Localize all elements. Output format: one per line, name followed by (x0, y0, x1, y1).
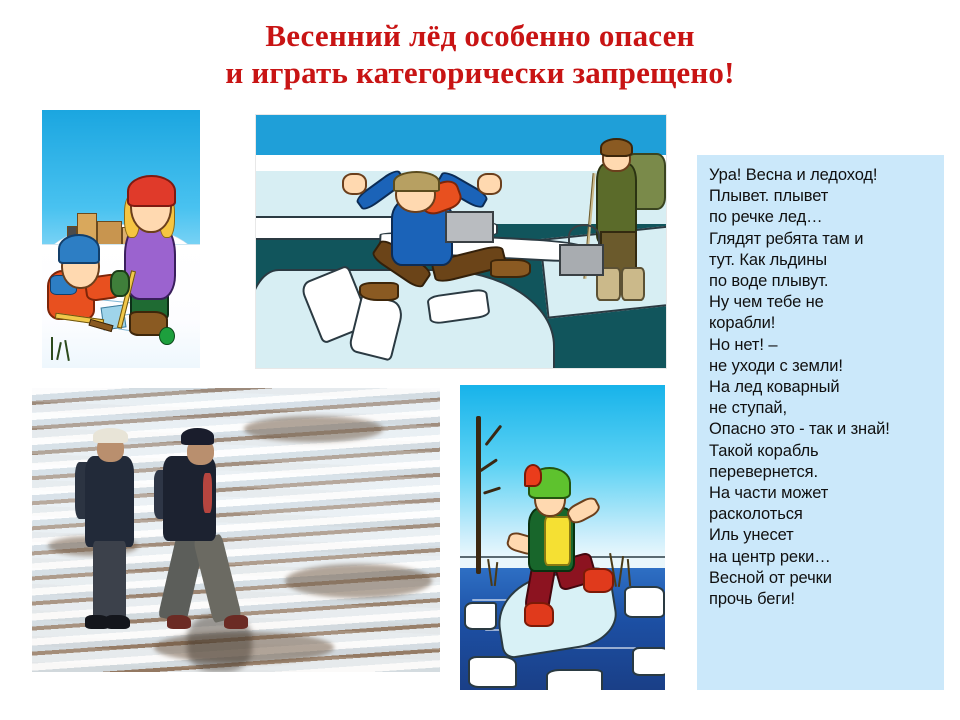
poem-line: На части может (709, 483, 938, 504)
right-boy-jacket-stripe (203, 473, 211, 513)
illustration-girl-on-ice-floe (460, 385, 665, 690)
left-boy-white-cap (93, 428, 128, 444)
poem-line: Ну чем тебе не (709, 292, 938, 313)
poem-line: не ступай, (709, 398, 938, 419)
left-boy-shoe-2 (105, 615, 129, 629)
right-boy-beanie (181, 428, 214, 445)
page-title: Весенний лёд особенно опасен и играть ка… (0, 18, 960, 91)
poem-line: Такой корабль (709, 441, 938, 462)
photo-boys-on-river-ice (32, 388, 440, 672)
boy-hat (393, 171, 440, 193)
poem-line: Глядят ребята там и (709, 229, 938, 250)
girl-right-boot (583, 568, 614, 593)
girl-left-boot (524, 602, 555, 627)
boy-right-hand (477, 173, 502, 195)
right-boy-shoe-1 (167, 615, 191, 629)
poem-line: Плывет. плывет (709, 186, 938, 207)
fisherman-tackle-box (559, 244, 604, 276)
poem-line: Но нет! – (709, 335, 938, 356)
grass-blade-1 (51, 337, 53, 360)
boy-mitten (110, 270, 130, 297)
left-boy-trousers (93, 541, 126, 621)
poem-line: на центр реки… (709, 547, 938, 568)
poem-line: перевернется. (709, 462, 938, 483)
ice-floe-small-4 (546, 669, 603, 690)
ice-floe-small-2 (624, 586, 665, 617)
title-line-2: и играть категорически запрещено! (0, 55, 960, 92)
fisherman-boot-right (621, 267, 646, 301)
left-boy-jacket (85, 456, 134, 547)
fisherman-ushanka-hat (600, 138, 633, 157)
poem-line: На лед коварный (709, 377, 938, 398)
boy-blue-hat (58, 234, 100, 264)
ice-floe-small-5 (632, 647, 665, 675)
poem-line: Иль унесет (709, 525, 938, 546)
girl-yellow-sweater (544, 516, 571, 566)
boy-right-boot (490, 259, 531, 278)
ice-floe-small-1 (464, 602, 497, 630)
poem-line: прочь беги! (709, 589, 938, 610)
girl-red-helmet (127, 175, 175, 207)
poem-panel: Ура! Весна и ледоход!Плывет. плыветпо ре… (697, 155, 944, 690)
poem-line: Ура! Весна и ледоход! (709, 165, 938, 186)
boy-left-hand (342, 173, 367, 195)
boy-left-boot (359, 282, 400, 301)
girl-hat-pompom (524, 464, 542, 486)
boy-tackle-box (445, 211, 494, 243)
poem-line: корабли! (709, 313, 938, 334)
wet-patch-1 (244, 416, 383, 442)
poem-line: по воде плывут. (709, 271, 938, 292)
poem-line: не уходи с земли! (709, 356, 938, 377)
poem-line: тут. Как льдины (709, 250, 938, 271)
poem-line: по речке лед… (709, 207, 938, 228)
bare-tree-trunk (476, 416, 481, 575)
title-line-1: Весенний лёд особенно опасен (0, 18, 960, 55)
illustration-kids-on-cracking-ice (42, 110, 200, 368)
ice-floe-small-3 (468, 656, 517, 687)
poem-text: Ура! Весна и ледоход!Плывет. плыветпо ре… (709, 165, 938, 610)
illustration-boy-jumping-over-crack (255, 114, 667, 369)
wet-patch-3 (285, 564, 432, 598)
building-2 (97, 221, 122, 246)
poem-line: Весной от речки (709, 568, 938, 589)
right-boy-shoe-2 (224, 615, 248, 629)
poem-line: расколоться (709, 504, 938, 525)
poem-line: Опасно это - так и знай! (709, 419, 938, 440)
